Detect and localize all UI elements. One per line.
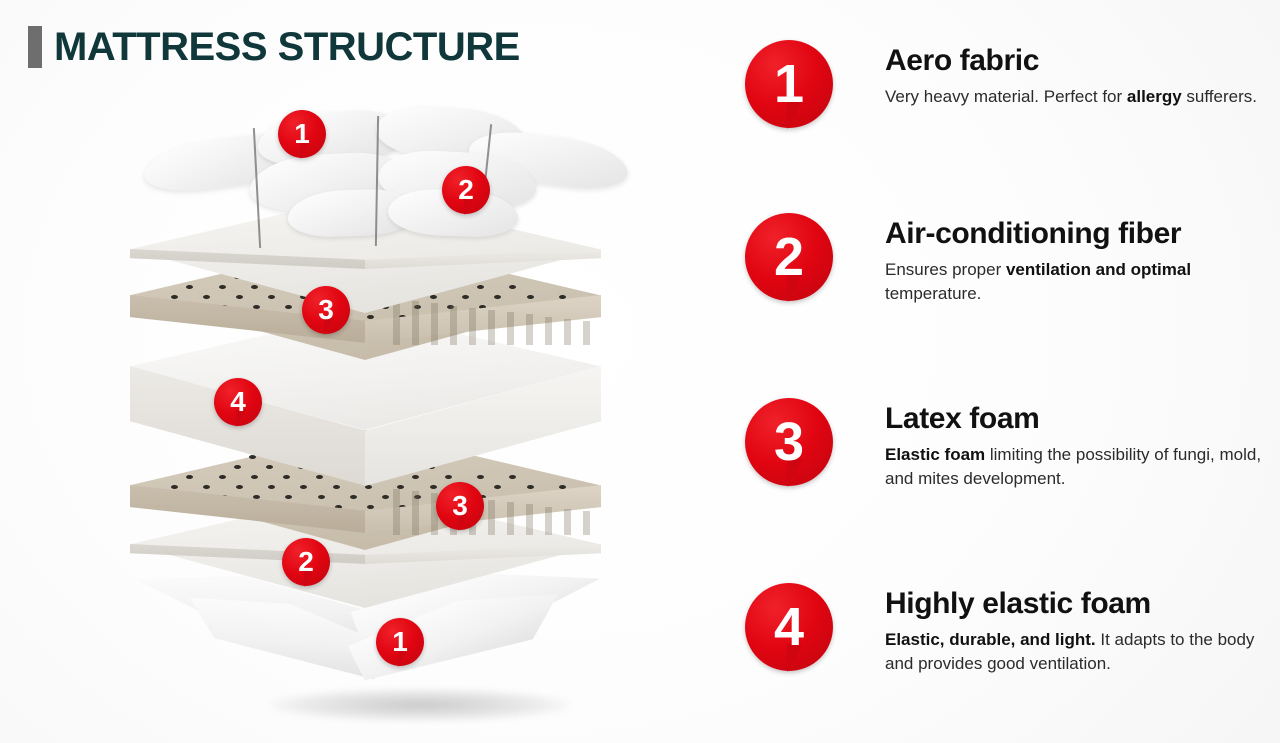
legend-marker-3[interactable]: 3 — [745, 398, 833, 486]
marker-number: 2 — [774, 230, 804, 284]
illustration-marker-4[interactable]: 4 — [214, 378, 262, 426]
illustration-marker-2-top[interactable]: 2 — [442, 166, 490, 214]
floor-shadow — [270, 688, 570, 722]
legend-text-block: Aero fabric Very heavy material. Perfect… — [885, 40, 1257, 109]
legend-item-2[interactable]: 2 Air-conditioning fiber Ensures proper … — [745, 213, 1275, 323]
legend-marker-4[interactable]: 4 — [745, 583, 833, 671]
marker-number: 2 — [298, 548, 314, 576]
legend-item-4[interactable]: 4 Highly elastic foam Elastic, durable, … — [745, 583, 1275, 693]
legend-title: Air-conditioning fiber — [885, 217, 1275, 250]
legend-title: Latex foam — [885, 402, 1275, 435]
legend-description: Very heavy material. Perfect for allergy… — [885, 85, 1257, 109]
legend-marker-2[interactable]: 2 — [745, 213, 833, 301]
illustration-marker-1-top[interactable]: 1 — [278, 110, 326, 158]
legend-item-3[interactable]: 3 Latex foam Elastic foam limiting the p… — [745, 398, 1275, 508]
legend-description: Elastic foam limiting the possibility of… — [885, 443, 1275, 491]
infographic-canvas: MATTRESS STRUCTURE — [0, 0, 1280, 743]
marker-number: 3 — [318, 296, 334, 324]
legend-pin-wrap: 2 — [745, 213, 885, 323]
marker-number: 1 — [294, 120, 310, 148]
layer-legend-list: 1 Aero fabric Very heavy material. Perfe… — [745, 0, 1275, 743]
legend-pin-wrap: 3 — [745, 398, 885, 508]
title-text: MATTRESS STRUCTURE — [54, 27, 520, 67]
marker-number: 3 — [774, 415, 804, 469]
layer-fabric-top — [138, 98, 598, 218]
legend-text-block: Air-conditioning fiber Ensures proper ve… — [885, 213, 1275, 306]
marker-number: 4 — [230, 388, 246, 416]
legend-description: Ensures proper ventilation and optimal t… — [885, 258, 1275, 306]
legend-text-block: Latex foam Elastic foam limiting the pos… — [885, 398, 1275, 491]
page-title: MATTRESS STRUCTURE — [28, 26, 520, 68]
legend-item-1[interactable]: 1 Aero fabric Very heavy material. Perfe… — [745, 40, 1275, 150]
marker-number: 1 — [774, 57, 804, 111]
marker-number: 3 — [452, 492, 468, 520]
illustration-marker-3-top[interactable]: 3 — [302, 286, 350, 334]
legend-pin-wrap: 4 — [745, 583, 885, 693]
illustration-marker-3-bottom[interactable]: 3 — [436, 482, 484, 530]
legend-marker-1[interactable]: 1 — [745, 40, 833, 128]
marker-number: 4 — [774, 600, 804, 654]
title-accent-bar — [28, 26, 42, 68]
illustration-marker-2-bottom[interactable]: 2 — [282, 538, 330, 586]
illustration-marker-1-bottom[interactable]: 1 — [376, 618, 424, 666]
legend-title: Aero fabric — [885, 44, 1257, 77]
legend-title: Highly elastic foam — [885, 587, 1275, 620]
legend-pin-wrap: 1 — [745, 40, 885, 150]
legend-text-block: Highly elastic foam Elastic, durable, an… — [885, 583, 1275, 676]
legend-description: Elastic, durable, and light. It adapts t… — [885, 628, 1275, 676]
marker-number: 1 — [392, 628, 408, 656]
mattress-illustration: 1 2 3 4 3 2 1 — [120, 90, 620, 710]
marker-number: 2 — [458, 176, 474, 204]
